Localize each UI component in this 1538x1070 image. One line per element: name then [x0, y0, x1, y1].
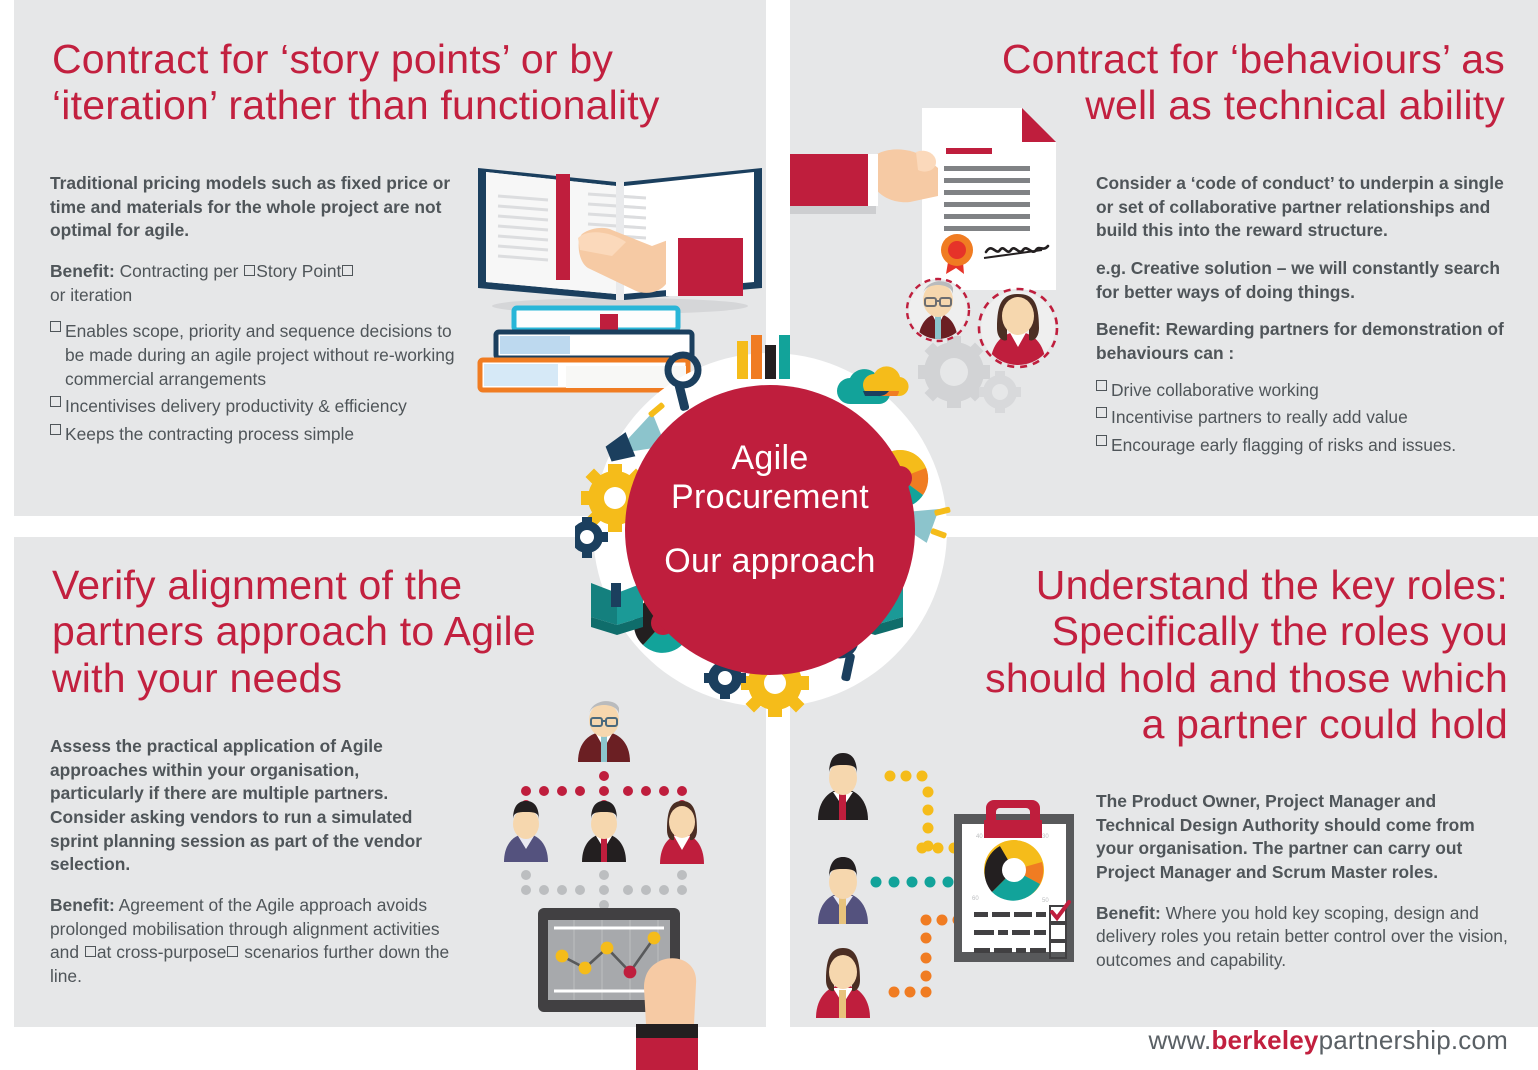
- body-bottom-right: The Product Owner, Project Manager and T…: [1096, 790, 1508, 973]
- svg-text:40: 40: [976, 834, 983, 840]
- placeholder-box-icon-2: [342, 265, 353, 276]
- benefit-text-b: at: [97, 942, 112, 962]
- list-item: Keeps the contracting process simple: [50, 423, 456, 447]
- svg-text:50: 50: [1042, 898, 1049, 904]
- avatar: [504, 801, 548, 862]
- benefit-line-top-left: Benefit: Contracting per Story Point or …: [50, 260, 456, 307]
- list-item: Enables scope, priority and sequence dec…: [50, 320, 456, 391]
- list-item: Drive collaborative working: [1096, 379, 1511, 403]
- body-top-left: Traditional pricing models such as fixed…: [50, 172, 456, 451]
- benefit-text-a: Contracting per: [115, 261, 244, 281]
- para1-bottom-left: Assess the practical application of Agil…: [50, 735, 450, 877]
- list-item-label: Incentivise partners to really add value: [1111, 407, 1408, 427]
- benefit-label: Benefit:: [50, 895, 115, 915]
- placeholder-box-icon: [244, 265, 255, 276]
- magnifier-icon: [668, 355, 698, 411]
- para1-bottom-right: The Product Owner, Project Manager and T…: [1096, 790, 1508, 885]
- dotted-link-yellow: [885, 771, 960, 854]
- url-brand: berkeley: [1211, 1025, 1318, 1055]
- footer-url[interactable]: www.berkeleypartnership.com: [1149, 1025, 1508, 1056]
- small-gear-icon-2: [575, 517, 608, 558]
- centre-line-3: Our approach: [625, 542, 915, 581]
- dotted-link-teal: [871, 877, 954, 888]
- tablet-line-chart-illustration: [512, 902, 742, 1070]
- bullet-list-top-right: Drive collaborative working Incentivise …: [1096, 379, 1511, 458]
- square-bullet-icon: [1096, 407, 1107, 418]
- benefit-text-b: Story Point: [256, 261, 341, 281]
- list-item-label: Enables scope, priority and sequence dec…: [65, 321, 455, 388]
- list-item-label: Keeps the contracting process simple: [65, 424, 354, 444]
- bar-chart-icon: [737, 335, 790, 379]
- centre-line-2: Procurement: [671, 478, 869, 516]
- avatar: [818, 753, 868, 820]
- url-prefix: www.: [1149, 1025, 1212, 1055]
- para1-top-right: Consider a ‘code of conduct’ to underpin…: [1096, 172, 1511, 243]
- benefit-text-c: cross-purpose: [111, 942, 226, 962]
- avatar: [582, 801, 626, 862]
- cloud-icon: [837, 366, 909, 404]
- list-item: Incentivise partners to really add value: [1096, 406, 1511, 430]
- heading-bottom-right: Understand the key roles: Specifically t…: [960, 562, 1508, 747]
- body-bottom-left: Assess the practical application of Agil…: [50, 735, 450, 989]
- benefit-label: Benefit:: [50, 261, 115, 281]
- list-item: Incentivises delivery productivity & eff…: [50, 395, 456, 419]
- list-item-label: Encourage early flagging of risks and is…: [1111, 435, 1456, 455]
- para2-top-right: e.g. Creative solution – we will constan…: [1096, 257, 1511, 304]
- bullet-list-top-left: Enables scope, priority and sequence dec…: [50, 320, 456, 446]
- svg-text:60: 60: [972, 896, 979, 902]
- url-suffix: partnership.com: [1319, 1025, 1508, 1055]
- benefit-line-top-right: Benefit: Rewarding partners for demonstr…: [1096, 318, 1511, 365]
- square-bullet-icon: [50, 424, 61, 435]
- avatar: [660, 801, 704, 864]
- placeholder-box-icon: [85, 946, 96, 957]
- list-item-label: Incentivises delivery productivity & eff…: [65, 396, 407, 416]
- benefit-line-bottom-left: Benefit: Agreement of the Agile approach…: [50, 894, 450, 989]
- centre-line-1: Agile: [731, 439, 808, 477]
- benefit-label: Benefit:: [1096, 319, 1161, 339]
- dotted-link-orange: [889, 915, 964, 998]
- list-item: Encourage early flagging of risks and is…: [1096, 434, 1511, 458]
- book-icon: [591, 583, 643, 635]
- benefit-label: Benefit:: [1096, 903, 1161, 923]
- square-bullet-icon: [1096, 380, 1107, 391]
- centre-title: Agile Procurement Our approach: [625, 439, 915, 581]
- svg-text:30: 30: [1042, 834, 1049, 840]
- benefit-text-c: or iteration: [50, 285, 132, 305]
- body-top-right: Consider a ‘code of conduct’ to underpin…: [1096, 172, 1511, 462]
- clipboard-roles-illustration: 4030 6050: [802, 752, 1082, 1020]
- heading-bottom-left: Verify alignment of the partners approac…: [52, 562, 572, 701]
- avatar: [816, 948, 870, 1018]
- benefit-line-bottom-right: Benefit: Where you hold key scoping, des…: [1096, 902, 1508, 973]
- square-bullet-icon: [1096, 435, 1107, 446]
- avatar: [818, 857, 868, 924]
- square-bullet-icon: [50, 396, 61, 407]
- square-bullet-icon: [50, 321, 61, 332]
- avatar: [979, 289, 1057, 368]
- centre-graphic: Agile Procurement Our approach: [575, 335, 965, 725]
- heading-top-left: Contract for ‘story points’ or by ‘itera…: [52, 36, 692, 129]
- intro-text-top-left: Traditional pricing models such as fixed…: [50, 172, 456, 243]
- placeholder-box-icon-2: [227, 946, 238, 957]
- list-item-label: Drive collaborative working: [1111, 380, 1319, 400]
